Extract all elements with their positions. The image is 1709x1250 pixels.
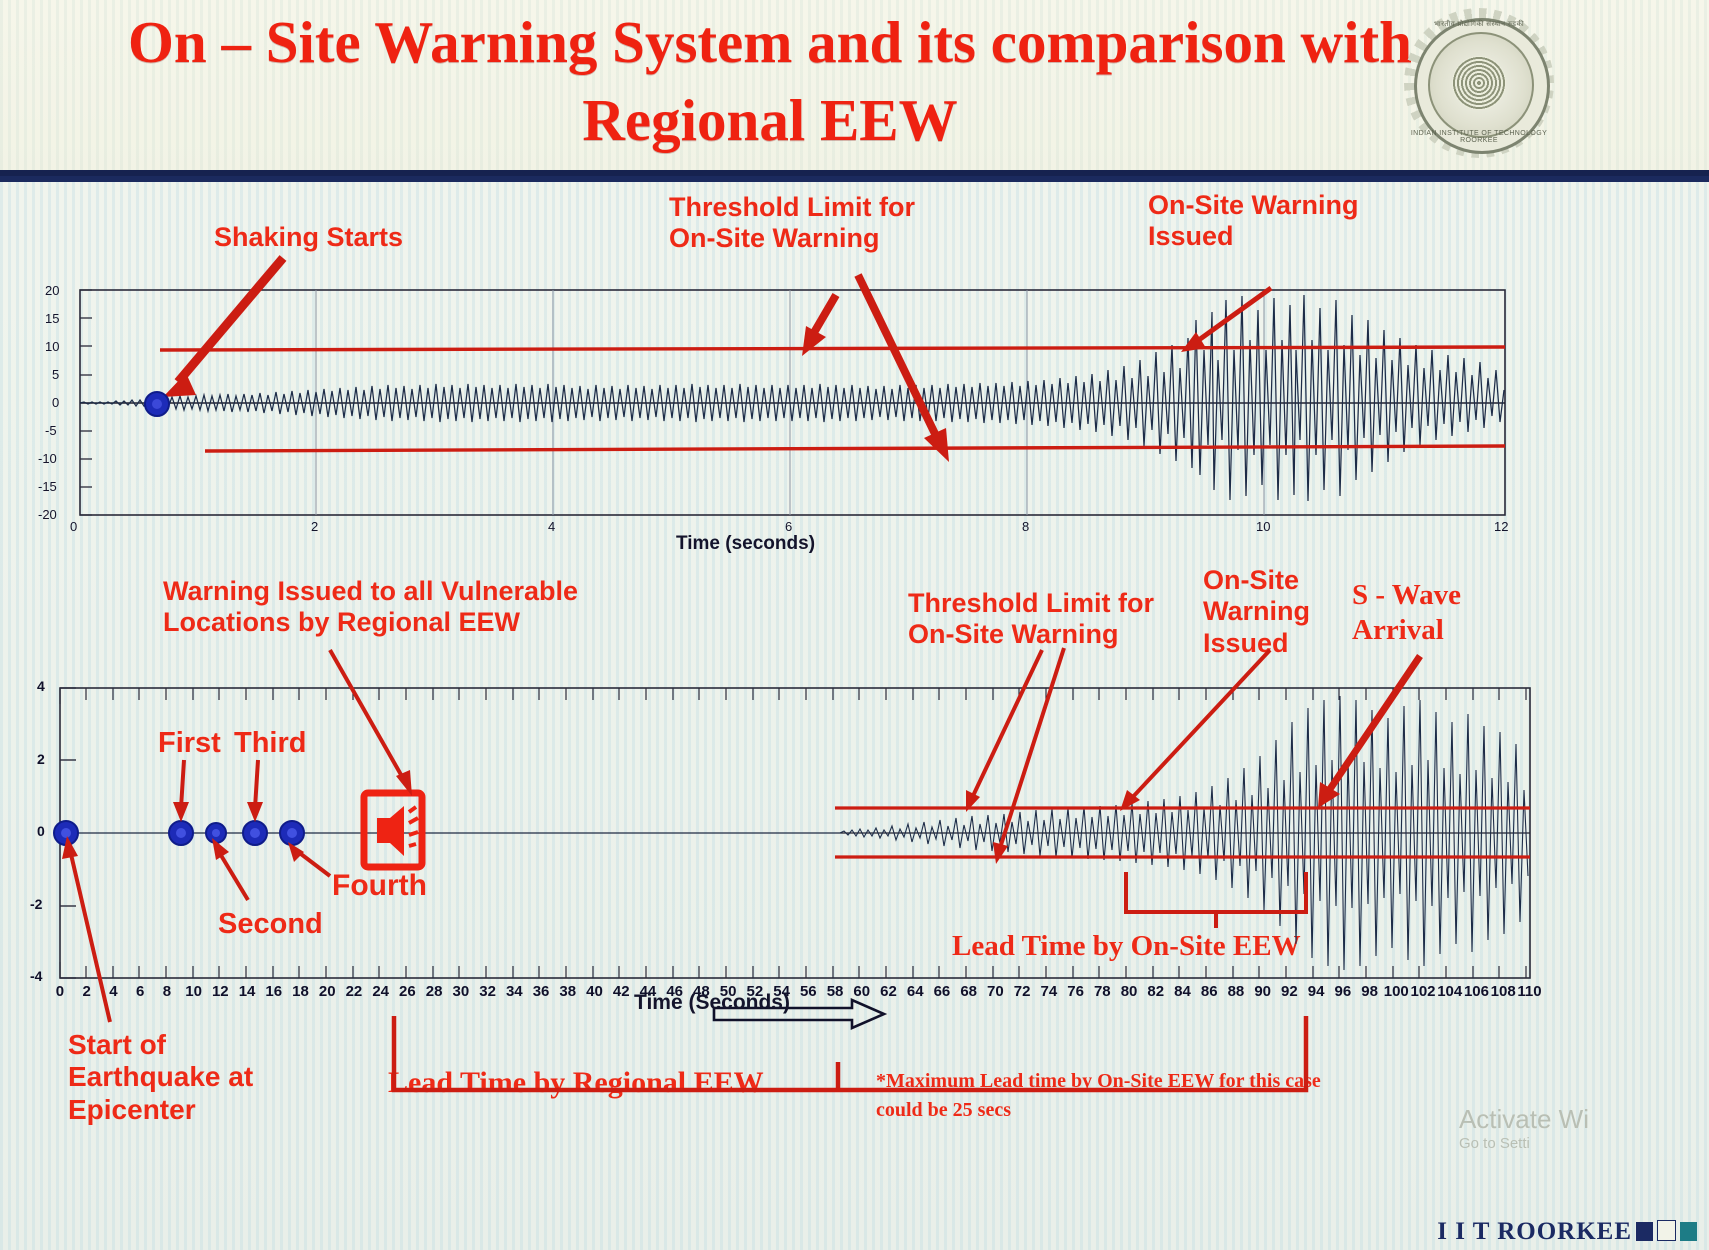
top-chart-xaxis-label: Time (seconds): [676, 533, 815, 555]
marker-first: [169, 821, 193, 845]
bottom-xtick-70: 70: [987, 983, 1004, 1000]
bottom-xtick-110: 110: [1517, 983, 1541, 1000]
annotation-regional-warning-issued: Warning Issued to all Vulnerable Locatio…: [163, 576, 578, 639]
bottom-xtick-56: 56: [800, 983, 817, 1000]
top-xtick-8: 8: [1022, 519, 1029, 534]
bottom-xtick-42: 42: [613, 983, 630, 1000]
page-title: On – Site Warning System and its compari…: [120, 4, 1420, 160]
bottom-xtick-102: 102: [1410, 983, 1435, 1000]
bottom-xtick-24: 24: [372, 983, 389, 1000]
bottom-xtick-82: 82: [1147, 983, 1164, 1000]
top-xtick-6: 6: [785, 519, 792, 534]
slide-header: On – Site Warning System and its compari…: [0, 0, 1709, 182]
bottom-xtick-8: 8: [163, 983, 171, 1000]
bottom-xtick-94: 94: [1308, 983, 1325, 1000]
top-xtick-0: 0: [70, 519, 77, 534]
footer-institute-label: I I T ROORKEE: [1437, 1218, 1632, 1245]
top-ytick-5: 5: [52, 367, 59, 382]
footer-square-teal: [1680, 1222, 1697, 1241]
top-chart-start-marker: [145, 392, 169, 416]
bottom-xtick-106: 106: [1464, 983, 1489, 1000]
bottom-xtick-38: 38: [559, 983, 576, 1000]
bottom-ytick-0: 0: [37, 823, 45, 839]
footer-institute-logo: I I T ROORKEE: [1437, 1218, 1697, 1246]
bottom-xtick-40: 40: [586, 983, 603, 1000]
bottom-xtick-36: 36: [533, 983, 550, 1000]
bottom-xtick-60: 60: [853, 983, 870, 1000]
top-chart-threshold-lines: [160, 347, 1505, 451]
bottom-xtick-28: 28: [426, 983, 443, 1000]
bottom-xtick-14: 14: [239, 983, 256, 1000]
top-ytick-0: 0: [52, 395, 59, 410]
annotation-threshold-limit-bottom: Threshold Limit for On-Site Warning: [908, 588, 1154, 651]
bottom-xtick-98: 98: [1361, 983, 1378, 1000]
annotation-onsite-warning-issued-bottom: On-Site Warning Issued: [1203, 565, 1310, 659]
footer-square-white: [1657, 1220, 1676, 1241]
bottom-xtick-12: 12: [212, 983, 229, 1000]
bottom-xtick-64: 64: [907, 983, 924, 1000]
bottom-ytick-m2: -2: [30, 896, 42, 912]
header-divider: [0, 170, 1709, 176]
windows-activation-watermark: Activate Wi Go to Setti: [1459, 1103, 1589, 1154]
bottom-chart-svg: [0, 660, 1709, 1220]
bottom-xtick-80: 80: [1121, 983, 1138, 1000]
bottom-xtick-74: 74: [1041, 983, 1058, 1000]
bottom-xtick-20: 20: [319, 983, 336, 1000]
bottom-xtick-58: 58: [827, 983, 844, 1000]
bottom-xtick-2: 2: [83, 983, 91, 1000]
top-xtick-4: 4: [548, 519, 555, 534]
bottom-xtick-100: 100: [1384, 983, 1409, 1000]
bottom-xtick-32: 32: [479, 983, 496, 1000]
bottom-chart-xaxis-label: Time (Seconds): [634, 991, 790, 1015]
bottom-xtick-16: 16: [265, 983, 282, 1000]
bottom-xtick-108: 108: [1491, 983, 1516, 1000]
bottom-xtick-6: 6: [136, 983, 144, 1000]
top-chart-arrows: [163, 258, 1271, 462]
bottom-xtick-18: 18: [292, 983, 309, 1000]
bottom-xtick-10: 10: [185, 983, 202, 1000]
annotation-s-wave-arrival: S - Wave Arrival: [1352, 578, 1461, 648]
bottom-xtick-90: 90: [1254, 983, 1271, 1000]
watermark-line-1: Activate Wi: [1459, 1103, 1589, 1136]
bottom-xtick-86: 86: [1201, 983, 1218, 1000]
bottom-xtick-26: 26: [399, 983, 416, 1000]
bottom-xtick-104: 104: [1437, 983, 1462, 1000]
bottom-ytick-4: 4: [37, 678, 45, 694]
bottom-xtick-96: 96: [1335, 983, 1352, 1000]
top-xtick-10: 10: [1256, 519, 1270, 534]
bottom-xtick-30: 30: [453, 983, 470, 1000]
watermark-line-2: Go to Setti: [1459, 1135, 1589, 1154]
top-ytick-m15: -15: [38, 479, 57, 494]
top-ytick-m5: -5: [45, 423, 57, 438]
top-xtick-12: 12: [1494, 519, 1508, 534]
bottom-xtick-78: 78: [1094, 983, 1111, 1000]
top-ytick-15: 15: [45, 311, 59, 326]
marker-fourth: [280, 821, 304, 845]
bottom-xtick-68: 68: [960, 983, 977, 1000]
bottom-xtick-92: 92: [1281, 983, 1298, 1000]
emblem-bottom-text: INDIAN INSTITUTE OF TECHNOLOGY ROORKEE: [1404, 130, 1554, 144]
emblem-top-text: भारतीय प्रौद्योगिकी संस्थान रुड़की: [1404, 20, 1554, 29]
regional-eew-broadcast-icon: [364, 793, 422, 867]
bottom-xtick-62: 62: [880, 983, 897, 1000]
lead-time-regional-bracket: [394, 1016, 1306, 1090]
bottom-xtick-88: 88: [1228, 983, 1245, 1000]
emblem-core: [1452, 56, 1506, 110]
bottom-xtick-84: 84: [1174, 983, 1191, 1000]
bottom-xtick-34: 34: [506, 983, 523, 1000]
bottom-xtick-66: 66: [934, 983, 951, 1000]
top-xtick-2: 2: [311, 519, 318, 534]
top-ytick-m10: -10: [38, 451, 57, 466]
top-ytick-20: 20: [45, 283, 59, 298]
bottom-xtick-72: 72: [1014, 983, 1031, 1000]
footer-square-blue: [1636, 1222, 1653, 1241]
top-chart-trace: [80, 295, 1504, 501]
marker-second: [206, 823, 226, 843]
bottom-ytick-2: 2: [37, 751, 45, 767]
bottom-ytick-m4: -4: [30, 968, 42, 984]
marker-third: [243, 821, 267, 845]
bottom-xtick-76: 76: [1067, 983, 1084, 1000]
slide-root: On – Site Warning System and its compari…: [0, 0, 1709, 1250]
top-ytick-m20: -20: [38, 507, 57, 522]
bottom-xtick-0: 0: [56, 983, 64, 1000]
iit-roorkee-emblem-icon: भारतीय प्रौद्योगिकी संस्थान रुड़की INDIA…: [1404, 8, 1554, 158]
top-ytick-10: 10: [45, 339, 59, 354]
bottom-xtick-22: 22: [346, 983, 363, 1000]
bottom-xtick-4: 4: [109, 983, 117, 1000]
